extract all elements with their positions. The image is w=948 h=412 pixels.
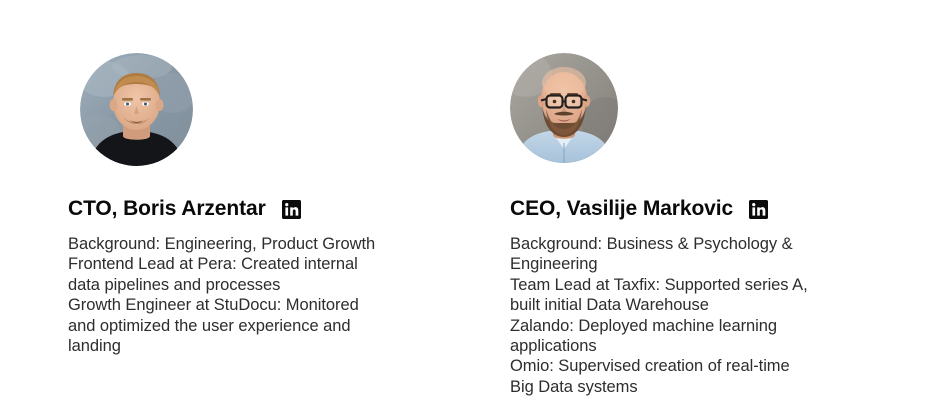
avatar-photo [80, 53, 193, 166]
profile-headline: CTO, Boris Arzentar [68, 196, 301, 222]
bio-line: Background: Business & Psychology & [510, 234, 860, 254]
linkedin-icon[interactable] [282, 200, 301, 219]
team-profiles-slide: CTO, Boris Arzentar Background: Engineer… [0, 0, 948, 412]
avatar-photo [510, 53, 618, 163]
bio-line: landing [68, 336, 428, 356]
bio-line: Big Data systems [510, 377, 860, 397]
bio-line: built initial Data Warehouse [510, 295, 860, 315]
profile-name: CEO, Vasilije Markovic [510, 196, 733, 222]
bio-line: Omio: Supervised creation of real-time [510, 356, 860, 376]
profile-card-ceo: CEO, Vasilije Markovic Background: Busin… [510, 0, 910, 412]
bio-line: applications [510, 336, 860, 356]
bio-line: Background: Engineering, Product Growth [68, 234, 428, 254]
profile-bio: Background: Business & Psychology & Engi… [510, 234, 860, 397]
profile-headline: CEO, Vasilije Markovic [510, 196, 768, 222]
bio-line: Zalando: Deployed machine learning [510, 316, 860, 336]
bio-line: Team Lead at Taxfix: Supported series A, [510, 275, 860, 295]
profile-bio: Background: Engineering, Product Growth … [68, 234, 428, 356]
bio-line: Growth Engineer at StuDocu: Monitored [68, 295, 428, 315]
bio-line: data pipelines and processes [68, 275, 428, 295]
avatar [510, 53, 618, 163]
bio-line: and optimized the user experience and [68, 316, 428, 336]
bio-line: Frontend Lead at Pera: Created internal [68, 254, 428, 274]
bio-line: Engineering [510, 254, 860, 274]
profile-name: CTO, Boris Arzentar [68, 196, 266, 222]
linkedin-icon[interactable] [749, 200, 768, 219]
profile-card-cto: CTO, Boris Arzentar Background: Engineer… [68, 0, 468, 412]
avatar [80, 53, 193, 166]
